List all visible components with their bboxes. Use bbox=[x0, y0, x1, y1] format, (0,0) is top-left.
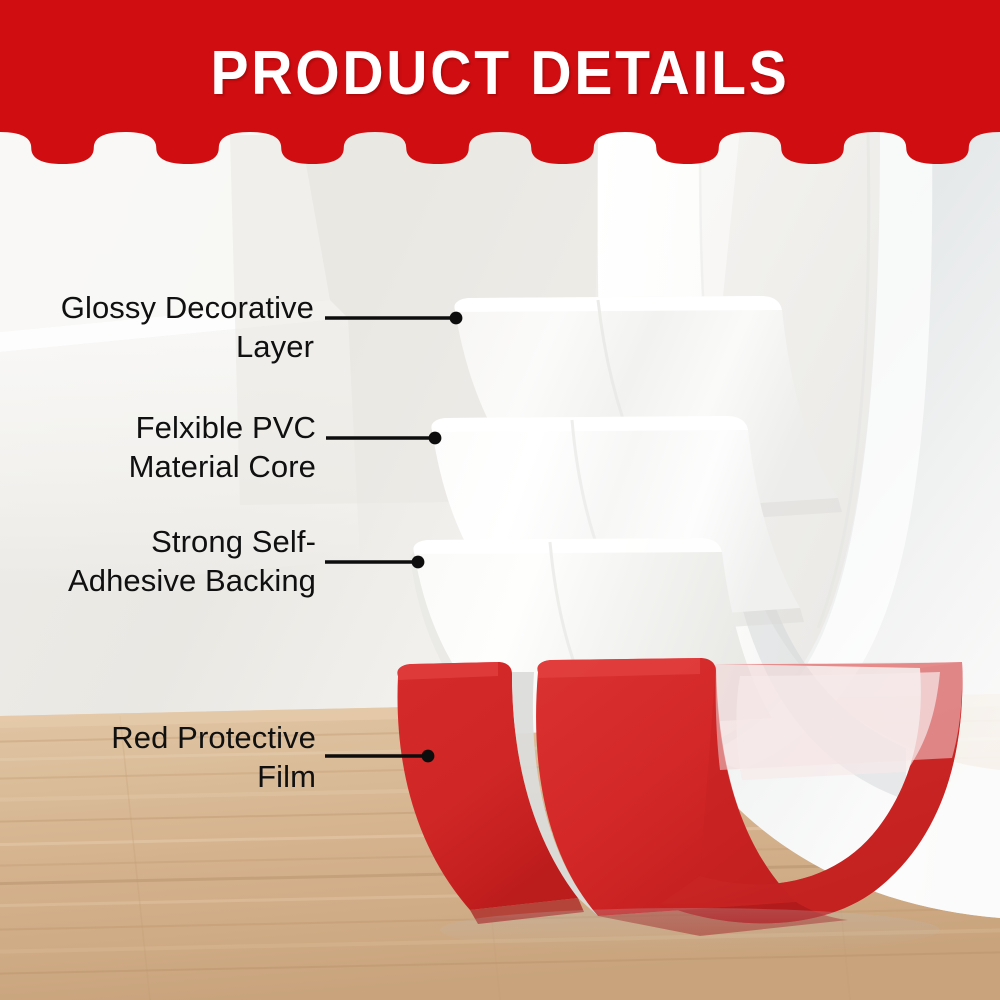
leader-dot-red-protective-film bbox=[422, 750, 435, 763]
red-film-white-show-through bbox=[736, 672, 940, 780]
tape-contact-shadow bbox=[440, 908, 940, 952]
product-illustration bbox=[0, 0, 1000, 1000]
product-details-infographic: PRODUCT DETAILS Glossy Decorative Layer … bbox=[0, 0, 1000, 1000]
strip-pvc-top-edge bbox=[431, 416, 748, 432]
leader-dot-strong-self-adhesive-backing bbox=[412, 556, 425, 569]
strip-glossy-top-edge bbox=[454, 296, 782, 312]
strip-adhesive-top-edge bbox=[413, 538, 722, 554]
page-title: PRODUCT DETAILS bbox=[40, 38, 960, 109]
leader-dot-glossy-decorative-layer bbox=[450, 312, 463, 325]
leader-dot-felxible-pvc-material-core bbox=[429, 432, 442, 445]
